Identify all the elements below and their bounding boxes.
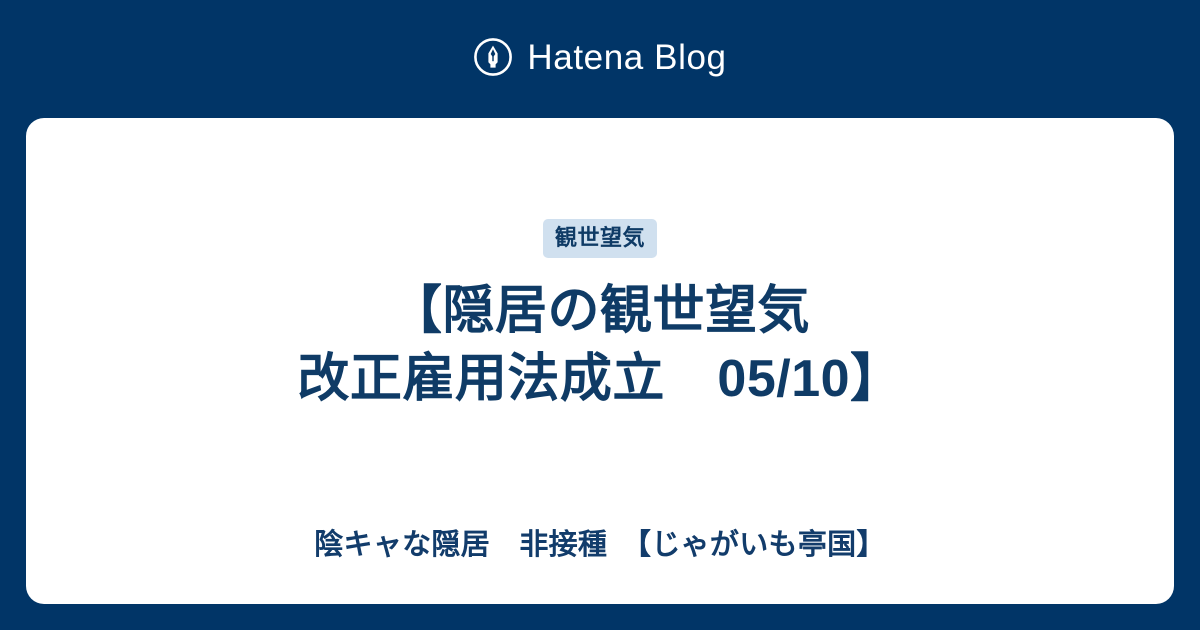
service-brand-bar: Hatena Blog [0, 0, 1200, 118]
service-name-label: Hatena Blog [527, 40, 726, 75]
category-tag-row: 観世望気 [543, 219, 657, 258]
entry-card: 観世望気 【隠居の観世望気 改正雇用法成立 05/10】 陰キャな隠居 非接種 … [26, 118, 1174, 604]
entry-title: 【隠居の観世望気 改正雇用法成立 05/10】 [297, 278, 902, 413]
blog-title: 陰キャな隠居 非接種 【じゃがいも亭国】 [314, 526, 886, 565]
fountain-pen-nib-circle-icon [473, 37, 513, 77]
hatena-blog-logo-lockup[interactable]: Hatena Blog [473, 37, 726, 77]
ogp-card-root: Hatena Blog 観世望気 【隠居の観世望気 改正雇用法成立 05/10】… [0, 0, 1200, 630]
category-tag-badge[interactable]: 観世望気 [543, 219, 657, 258]
entry-card-inner: 観世望気 【隠居の観世望気 改正雇用法成立 05/10】 陰キャな隠居 非接種 … [26, 118, 1174, 565]
